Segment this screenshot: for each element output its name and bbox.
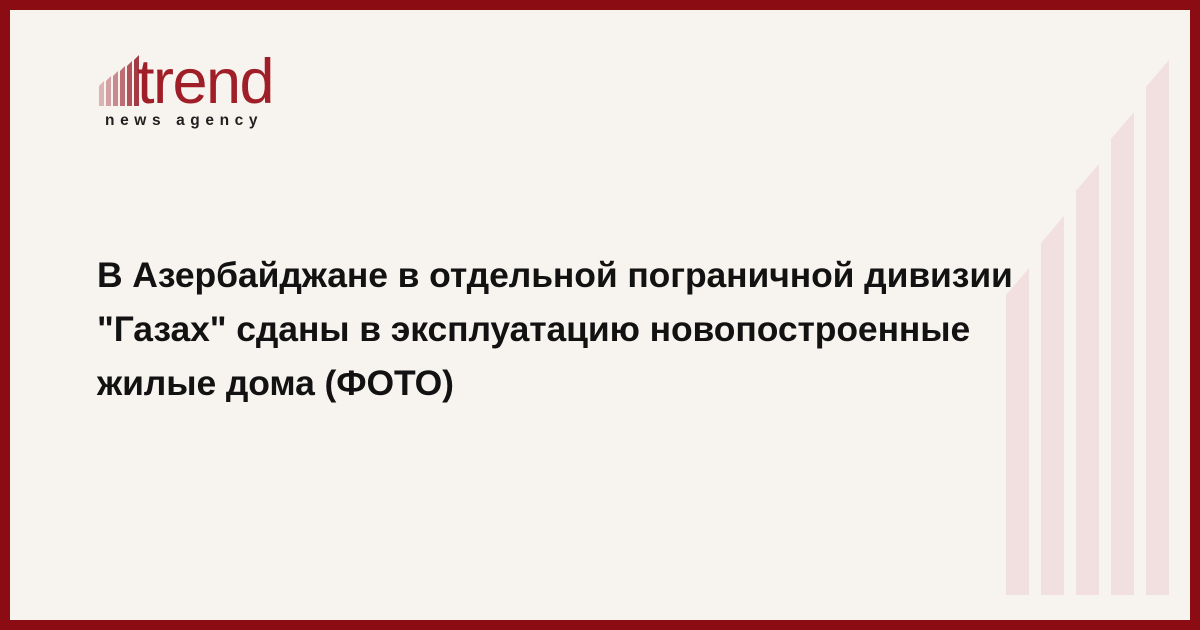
- social-share-card: trend news agency В Азербайджане в отдел…: [0, 0, 1200, 630]
- svg-text:trend: trend: [137, 48, 273, 110]
- headline-line-1: В Азербайджане в отдельной пограничной д…: [97, 248, 1107, 302]
- card-canvas: trend news agency В Азербайджане в отдел…: [10, 10, 1190, 620]
- headline-line-3: жилые дома (ФОТО): [97, 356, 1107, 410]
- headline-line-2: "Газах" сданы в эксплуатацию новопострое…: [97, 302, 1107, 356]
- headline: В Азербайджане в отдельной пограничной д…: [97, 248, 1107, 410]
- trend-wordmark-mark: trend: [97, 48, 282, 110]
- trend-logo[interactable]: trend news agency: [97, 48, 397, 140]
- logo-tagline: news agency: [105, 112, 263, 130]
